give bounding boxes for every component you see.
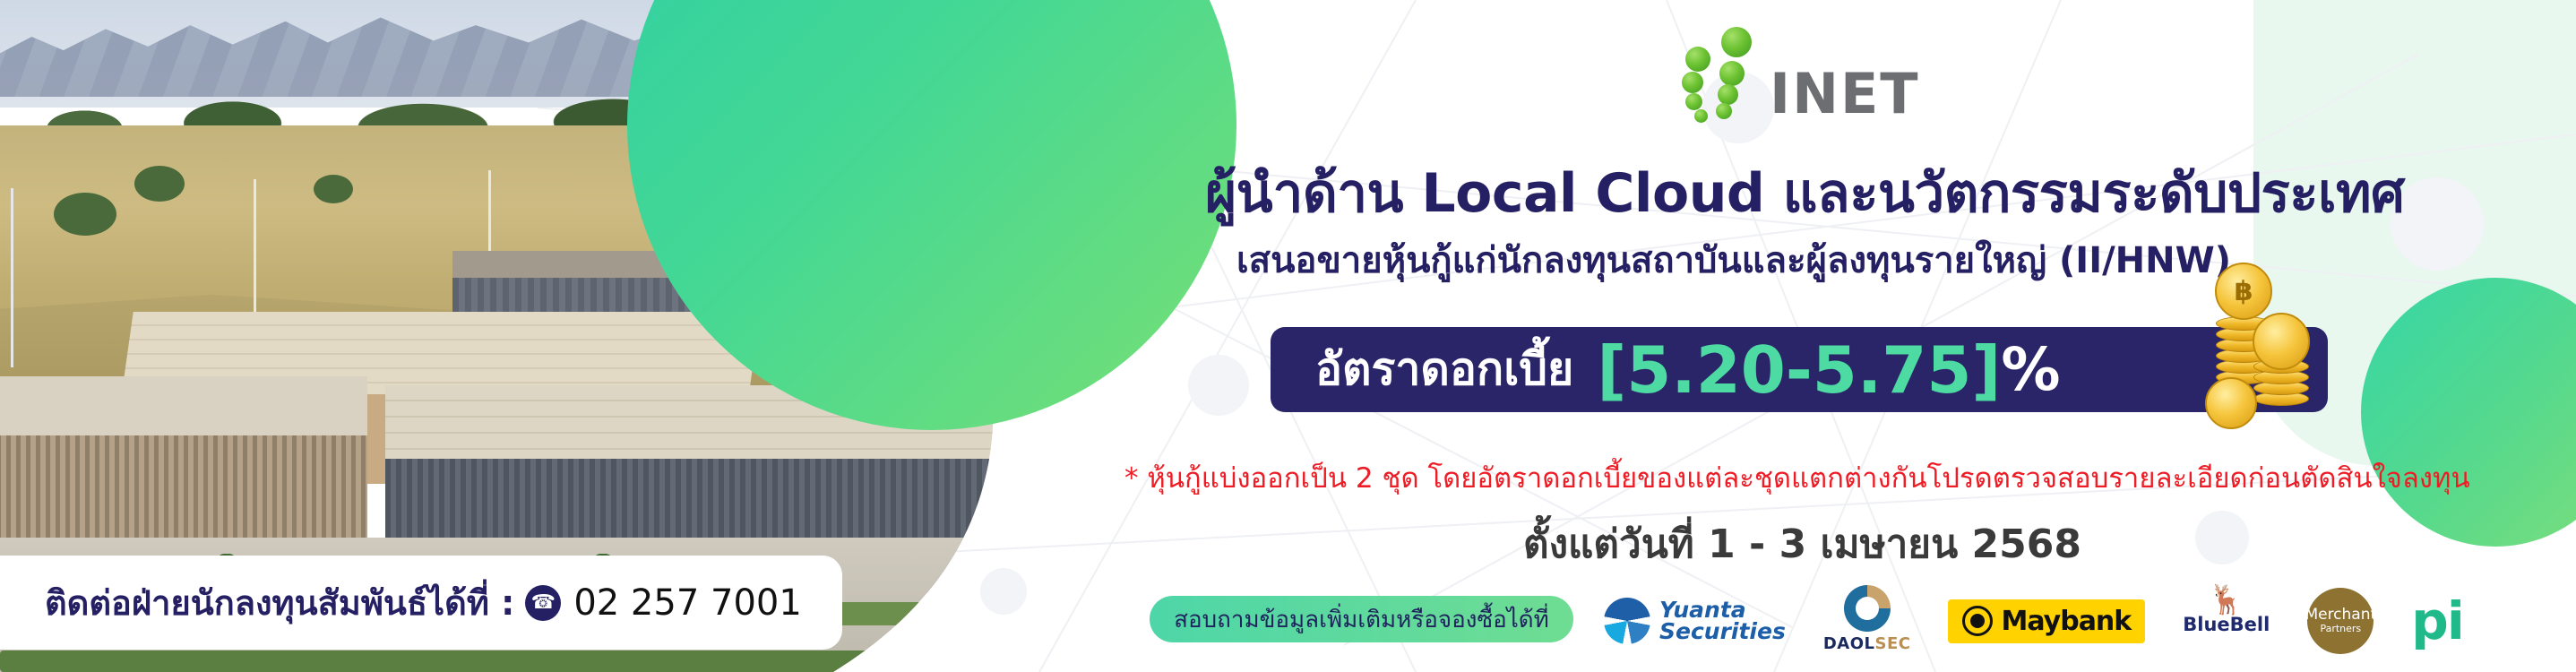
contact-phone-number[interactable]: 02 257 7001 [573,582,801,624]
partner-logo-pi[interactable]: pi [2411,585,2462,657]
interest-rate-value: [5.20-5.75] [1597,338,2001,402]
phone-icon: ☎ [525,585,561,621]
partner-logo-bluebell[interactable]: 🦌 BlueBell [2183,585,2270,657]
partner-logo-yuanta[interactable]: Yuanta Securities [1604,585,1786,657]
coin-symbol: ฿ [2215,263,2272,320]
partner-logo-row: Yuanta Securities DAOLSEC Maybank 🦌 Blue… [1604,581,2545,661]
partner-logo-daol[interactable]: DAOLSEC [1823,585,1911,657]
inet-wordmark: INET [1770,66,1920,122]
disclaimer-text: * หุ้นกู้แบ่งออกเป็น 2 ชุด โดยอัตราดอกเบ… [1124,455,2470,500]
deer-icon: 🦌 [2209,585,2244,614]
investor-relations-contact: ติดต่อฝ่ายนักลงทุนสัมพันธ์ได้ที่ : ☎ 02 … [0,556,842,650]
partner-logo-maybank[interactable]: Maybank [1948,585,2145,657]
bluebell-wordmark: BlueBell [2183,614,2270,635]
interest-rate-box: อัตราดอกเบี้ย [5.20-5.75] % [1271,327,2328,412]
inet-bond-banner: INET ผู้นำด้าน Local Cloud และนวัตกรรมระ… [0,0,2576,672]
yuanta-mark-icon [1604,598,1650,644]
interest-rate-label: อัตราดอกเบี้ย [1315,334,1573,405]
yuanta-line2: Securities [1659,621,1786,642]
daol-text-sub: SEC [1875,634,1911,653]
maybank-tiger-icon [1962,606,1993,636]
inet-logo: INET [1680,27,1967,116]
gold-coins-icon: ฿ [2200,300,2325,435]
inet-dots-icon [1680,27,1766,116]
inquiry-button[interactable]: สอบถามข้อมูลเพิ่มเติมหรือจองซื้อได้ที่ [1150,596,1573,642]
offering-dateline: ตั้งแต่วันที่ 1 - 3 เมษายน 2568 [1523,513,2081,575]
pi-wordmark: pi [2411,600,2462,642]
partner-logo-merchant-partners[interactable]: Merchant Partners [2307,585,2374,657]
contact-label: ติดต่อฝ่ายนักลงทุนสัมพันธ์ได้ที่ : [45,575,514,630]
daol-mark-icon [1844,585,1891,632]
daol-text-main: DAOL [1823,634,1875,653]
maybank-wordmark: Maybank [2001,606,2131,637]
interest-rate-unit: % [2001,340,2060,400]
page-title: ผู้นำด้าน Local Cloud และนวัตกรรมระดับปร… [1205,151,2460,236]
merchant-line1: Merchant [2305,607,2376,624]
merchant-line2: Partners [2320,623,2361,634]
